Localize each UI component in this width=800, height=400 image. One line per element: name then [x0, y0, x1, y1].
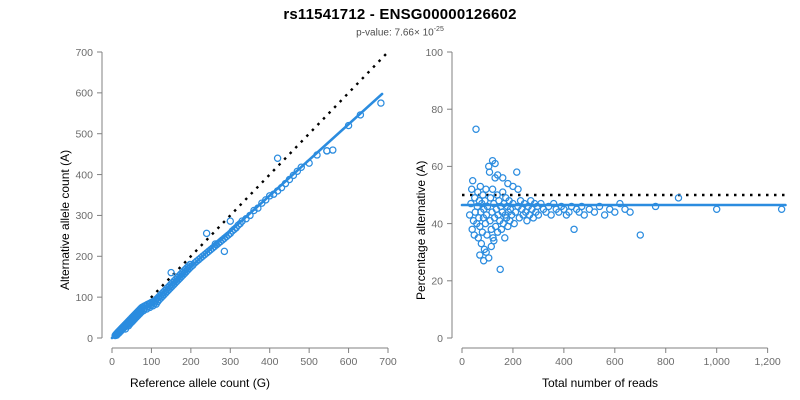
data-point	[221, 248, 227, 254]
data-points	[112, 100, 384, 339]
y-tick-label: 80	[431, 104, 443, 116]
data-point	[473, 126, 479, 132]
data-point	[612, 209, 618, 215]
scatter-plot-right: 02040608010002004006008001,0001,200	[400, 0, 800, 400]
data-point	[500, 175, 506, 181]
data-point	[481, 258, 487, 264]
scatter-panel-reference-vs-alternative: 0100200300400500600700010020030040050060…	[0, 0, 400, 400]
data-point	[324, 148, 330, 154]
data-point	[627, 209, 633, 215]
data-point	[483, 186, 489, 192]
data-point	[571, 226, 577, 232]
data-point	[514, 169, 520, 175]
x-tick-label: 700	[379, 356, 397, 368]
data-point	[470, 178, 476, 184]
x-tick-label: 0	[459, 356, 465, 368]
data-point	[484, 232, 490, 238]
y-axis-title-right: Percentage alternative (A)	[414, 161, 428, 300]
data-point	[487, 195, 493, 201]
y-tick-label: 20	[431, 276, 443, 288]
data-point	[515, 186, 521, 192]
x-tick-label: 200	[182, 356, 200, 368]
x-tick-label: 300	[222, 356, 240, 368]
x-tick-label: 600	[606, 356, 624, 368]
data-point	[502, 235, 508, 241]
data-point	[469, 186, 475, 192]
y-tick-label: 500	[75, 129, 93, 141]
data-point	[714, 206, 720, 212]
reference-line	[112, 52, 388, 338]
y-axis-title-left: Alternative allele count (A)	[58, 150, 72, 290]
data-point	[602, 212, 608, 218]
y-tick-label: 100	[75, 292, 93, 304]
x-tick-label: 400	[261, 356, 279, 368]
data-point	[477, 252, 483, 258]
y-tick-label: 0	[87, 333, 93, 345]
x-tick-label: 1,000	[704, 356, 730, 368]
x-tick-label: 400	[555, 356, 573, 368]
data-point	[330, 147, 336, 153]
x-tick-label: 500	[300, 356, 318, 368]
y-tick-label: 100	[425, 47, 443, 59]
y-tick-label: 600	[75, 88, 93, 100]
y-tick-label: 200	[75, 251, 93, 263]
data-points	[467, 126, 785, 272]
y-tick-label: 40	[431, 218, 443, 230]
data-point	[275, 155, 281, 161]
data-point	[489, 186, 495, 192]
y-tick-label: 0	[437, 333, 443, 345]
data-point	[378, 100, 384, 106]
x-tick-label: 1,200	[754, 356, 780, 368]
y-tick-label: 400	[75, 169, 93, 181]
y-tick-label: 60	[431, 161, 443, 173]
x-tick-label: 0	[109, 356, 115, 368]
x-tick-label: 600	[340, 356, 358, 368]
x-tick-label: 100	[143, 356, 161, 368]
data-point	[168, 270, 174, 276]
data-point	[497, 266, 503, 272]
fit-line	[112, 94, 382, 338]
x-tick-label: 200	[504, 356, 522, 368]
data-point	[637, 232, 643, 238]
data-point	[227, 218, 233, 224]
data-point	[591, 209, 597, 215]
y-tick-label: 300	[75, 210, 93, 222]
x-tick-label: 800	[657, 356, 675, 368]
data-point	[779, 206, 785, 212]
x-axis-title-right: Total number of reads	[400, 376, 800, 390]
figure-container: rs11541712 - ENSG00000126602 p-value: 7.…	[0, 0, 800, 400]
x-axis-title-left: Reference allele count (G)	[0, 376, 400, 390]
data-point	[204, 230, 210, 236]
data-point	[581, 212, 587, 218]
scatter-panel-percentage-vs-reads: 02040608010002004006008001,0001,200 Tota…	[400, 0, 800, 400]
y-tick-label: 700	[75, 47, 93, 59]
data-point	[548, 212, 554, 218]
